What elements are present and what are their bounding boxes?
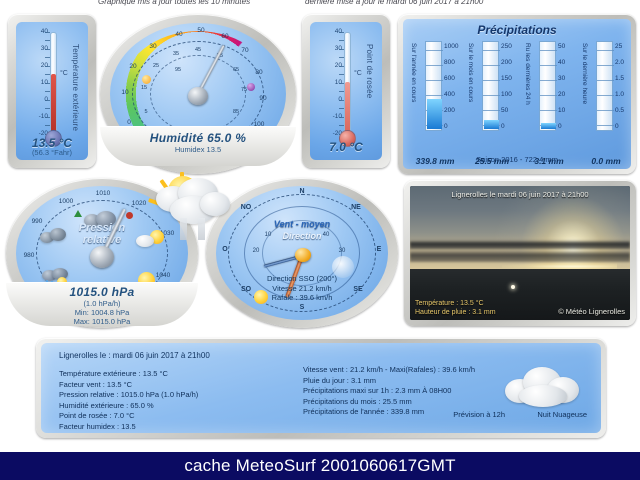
summary-row: Pluie du jour : 3.1 mm [303,376,475,387]
dewpoint-ticks [339,32,344,136]
webcam-timestamp: Lignerolles le mardi 06 juin 2017 à 21h0… [410,190,630,199]
temperature-title: Température extérieure [71,44,80,131]
summary-panel[interactable]: Lignerolles le : mardi 06 juin 2017 à 21… [36,338,606,438]
summary-row: Facteur vent : 13.5 °C [59,380,198,391]
summary-row: Précipitations de l'année : 339.8 mm [303,407,475,418]
temperature-unit: °C [60,70,68,77]
precipitation-season-note: Saison 2016 - 722.4 mm [403,155,631,164]
temperature-ticks [45,32,50,136]
precip-scale-24h: 50 40 30 20 10 0 [558,38,580,134]
humidity-humidex: Humidex 13.5 [100,145,296,154]
precip-scale-month: 250 200 150 100 50 0 [501,38,523,134]
summary-row: Température extérieure : 13.5 °C [59,369,198,380]
temperature-face: Température extérieure 40 30 20 10 0 -10… [16,22,88,160]
forecast-cloud-icon [503,363,583,409]
pressure-min: Min: 1004.8 hPa [6,308,198,317]
precipitation-title: Précipitations [403,23,631,37]
temperature-mercury [51,74,56,136]
summary-right-column: Vitesse vent : 21.2 km/h - Maxi(Rafales)… [303,365,475,418]
precip-tube-year [425,41,442,131]
summary-row: Humidité extérieure : 65.0 % [59,401,198,412]
weather-station-dashboard: Graphique mis à jour toutes les 10 minut… [0,0,640,480]
precip-label-year: Sur l'année en cours [410,43,417,102]
webcam-panel[interactable]: Lignerolles le mardi 06 juin 2017 à 21h0… [404,180,636,326]
summary-left-column: Température extérieure : 13.5 °C Facteur… [59,369,198,432]
webcam-readings: Température : 13.5 °C Hauteur de pluie :… [415,300,496,317]
wind-direction-text: Direction SSO (200°) [216,274,388,284]
precip-label-month: Sur le mois en cours [467,43,474,102]
temperature-thermometer[interactable]: Température extérieure 40 30 20 10 0 -10… [8,14,96,168]
dewpoint-thermometer[interactable]: Point de rosée 40 30 20 10 0 -10 -20 °C … [302,14,390,168]
dewpoint-unit: °C [354,70,362,77]
summary-row: Facteur humidex : 13.5 [59,422,198,433]
humidity-caption: Humidité 65.0 % Humidex 13.5 [100,126,296,166]
wind-readout: Direction SSO (200°) Vitesse 21.2 km/h R… [216,274,388,303]
top-caption-strip: Graphique mis à jour toutes les 10 minut… [0,0,640,11]
caption-last-update: dernière mise à jour le mardi 06 juin 20… [305,0,483,6]
humidity-gauge[interactable]: 0 10 20 30 40 50 60 70 80 90 100 5 15 25… [100,14,296,174]
humidity-value: Humidité 65.0 % [100,127,296,145]
webcam-image: Lignerolles le mardi 06 juin 2017 à 21h0… [410,186,630,320]
webcam-cloud-band-1 [410,240,630,249]
precip-fill-year [427,99,442,129]
wind-sun-icon [254,290,268,304]
dewpoint-value: 7.0 °C [310,140,382,154]
wind-gust-text: Rafale : 39.6 km/h [216,293,388,303]
summary-row: Pression relative : 1015.0 hPa (1.0 hPa/… [59,390,198,401]
summary-row: Précipitations maxi sur 1h : 2.3 mm À 08… [303,386,475,397]
dewpoint-mercury [345,82,350,136]
precip-label-24h: Ru les dernières 24 h [524,43,531,105]
forecast-label: Prévision à 12h [453,410,505,419]
webcam-temperature: Température : 13.5 °C [415,300,496,309]
pressure-caption: 1015.0 hPa (1.0 hPa/h) Min: 1004.8 hPa M… [6,282,198,326]
precipitation-face: Précipitations Sur l'année en cours 1000… [403,19,631,169]
wind-hub [295,248,311,262]
forecast-text: Nuit Nuageuse [537,410,587,419]
precip-fill-24h [541,123,556,129]
pressure-max: Max: 1015.0 hPa [6,317,198,326]
temperature-fahrenheit: (56.3 °Fahr) [16,148,88,157]
precipitation-panel[interactable]: Précipitations Sur l'année en cours 1000… [398,14,636,174]
humidity-low-marker [142,75,151,84]
precip-scale-year: 1000 800 600 400 200 0 [444,38,466,134]
webcam-rainfall: Hauteur de pluie : 3.1 mm [415,309,496,318]
precip-fill-month [484,120,499,129]
humidity-high-marker [247,83,255,91]
summary-face: Lignerolles le : mardi 06 juin 2017 à 21… [41,343,601,433]
caption-update-interval: Graphique mis à jour toutes les 10 minut… [98,0,250,6]
wind-speed-text: Vitesse 21.2 km/h [216,284,388,294]
precip-label-hour: Sur le dernière heure [581,43,588,104]
pressure-down-marker-icon [126,212,133,219]
webcam-cloud-band-2 [410,250,630,262]
status-bar-text: cache MeteoSurf 2001060617GMT [184,456,455,476]
summary-row: Vitesse vent : 21.2 km/h - Maxi(Rafales)… [303,365,475,376]
summary-row: Point de rosée : 7.0 °C [59,411,198,422]
pressure-trend: (1.0 hPa/h) [6,299,198,308]
sun-behind-cloud-icon [152,170,242,240]
precip-tube-24h [539,41,556,131]
precip-tube-month [482,41,499,131]
pressure-value: 1015.0 hPa [6,283,198,299]
summary-heading: Lignerolles le : mardi 06 juin 2017 à 21… [59,351,210,360]
precip-tube-hour [596,41,613,131]
pressure-hub [90,246,114,268]
dewpoint-face: Point de rosée 40 30 20 10 0 -10 -20 °C … [310,22,382,160]
dewpoint-title: Point de rosée [365,44,374,98]
humidity-hub [188,87,208,105]
summary-row: Précipitations du mois : 25.5 mm [303,397,475,408]
webcam-copyright: © Météo Lignerolles [558,307,625,316]
precip-scale-hour: 25 2.0 1.5 1.0 0.5 0 [615,38,637,134]
pressure-up-arrow-icon [74,210,82,217]
status-bar: cache MeteoSurf 2001060617GMT [0,452,640,480]
